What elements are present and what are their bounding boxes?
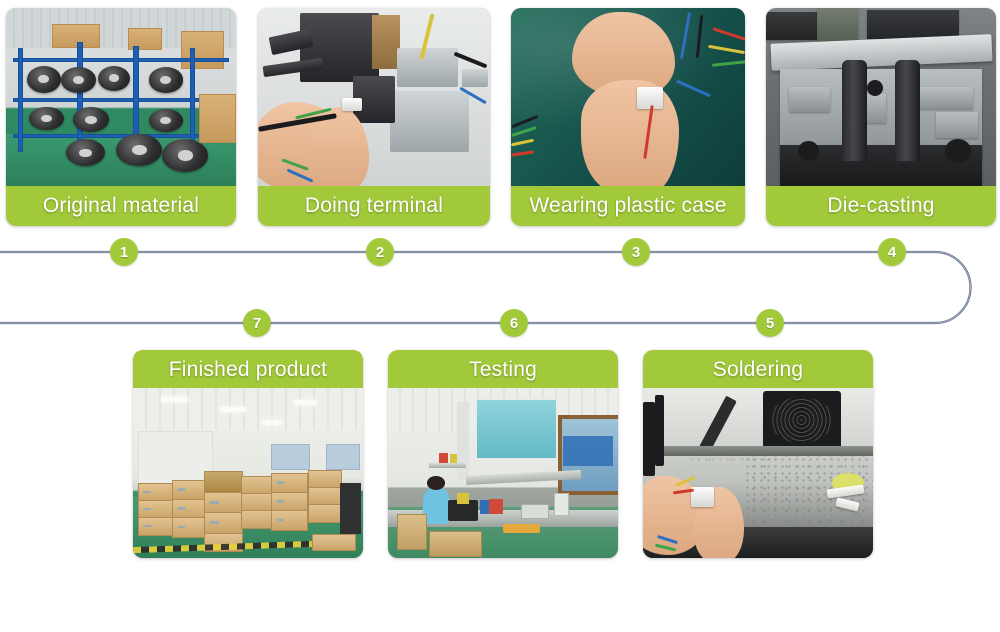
step-card-original-material[interactable]: Original material xyxy=(6,8,236,226)
step-card-soldering[interactable]: Soldering xyxy=(643,350,873,558)
step-badge-2: 2 xyxy=(366,238,394,266)
photo-hands-assembling-connector-green-mat xyxy=(511,8,745,188)
photo-terminal-crimping-machine-hands xyxy=(258,8,490,188)
step-caption: Original material xyxy=(6,186,236,226)
step-badge-7: 7 xyxy=(243,309,271,337)
step-badge-3: 3 xyxy=(622,238,650,266)
step-card-testing[interactable]: Testing xyxy=(388,350,618,558)
step-badge-4: 4 xyxy=(878,238,906,266)
photo-soldering-bench-hands-connector xyxy=(643,388,873,558)
step-card-wearing-plastic-case[interactable]: Wearing plastic case xyxy=(511,8,745,226)
step-badge-1: 1 xyxy=(110,238,138,266)
step-caption: Finished product xyxy=(133,350,363,390)
step-card-doing-terminal[interactable]: Doing terminal xyxy=(258,8,490,226)
step-card-die-casting[interactable]: Die-casting xyxy=(766,8,996,226)
step-caption: Wearing plastic case xyxy=(511,186,745,226)
step-badge-6: 6 xyxy=(500,309,528,337)
step-caption: Testing xyxy=(388,350,618,390)
photo-die-casting-mold-connectors xyxy=(766,8,996,188)
step-caption: Doing terminal xyxy=(258,186,490,226)
photo-testing-lab-worker-bench xyxy=(388,388,618,558)
production-flow-diagram: Original material xyxy=(0,0,1000,632)
step-card-finished-product[interactable]: Finished product xyxy=(133,350,363,558)
step-badge-5: 5 xyxy=(756,309,784,337)
photo-finished-goods-cartons-warehouse xyxy=(133,388,363,558)
step-caption: Die-casting xyxy=(766,186,996,226)
step-caption: Soldering xyxy=(643,350,873,390)
photo-warehouse-racks-cable-coils xyxy=(6,8,236,188)
